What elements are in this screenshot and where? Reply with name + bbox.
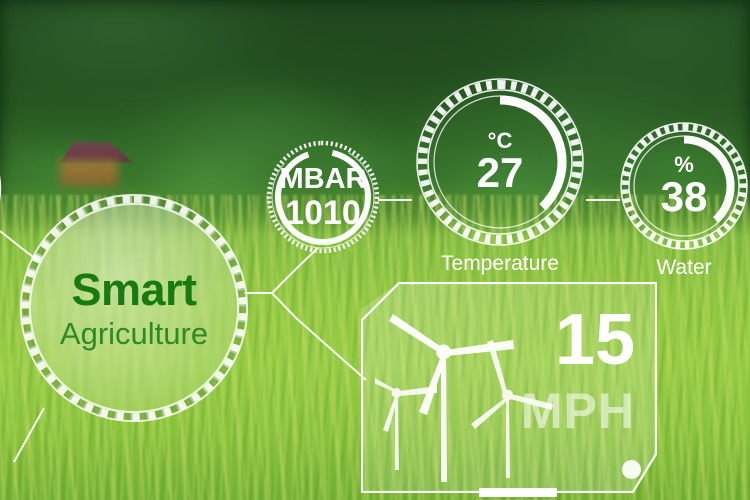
gauge-pressure[interactable]: MBAR 1010 <box>266 140 380 254</box>
connector-junction-to-wind <box>272 293 366 380</box>
brand-badge-text: Smart Agriculture <box>18 192 250 424</box>
connector-junction-to-mbar <box>272 248 318 293</box>
partial-gauge-icon <box>0 140 16 236</box>
gauge-water-value: 38 <box>661 176 708 218</box>
gauge-pressure-unit: MBAR <box>280 165 367 194</box>
wind-turbine-left <box>375 370 437 470</box>
gauge-temperature[interactable]: °C 27 Temperature <box>414 76 586 248</box>
wind-turbine-large <box>389 314 514 482</box>
wind-panel-corner-dot <box>622 460 641 479</box>
smart-agriculture-dashboard: Smart Agriculture MBAR 1010 <box>0 0 750 500</box>
gauge-temperature-value: 27 <box>477 152 524 194</box>
brand-badge[interactable]: Smart Agriculture <box>18 192 250 424</box>
wind-panel[interactable]: 15 MPH <box>361 282 657 493</box>
gauge-water[interactable]: % 38 Water <box>618 120 750 252</box>
brand-subtitle: Agriculture <box>60 318 208 349</box>
gauge-pressure-value: 1010 <box>285 196 361 230</box>
wind-panel-bottom-bar <box>479 488 557 497</box>
wind-speed-value: 15 <box>555 304 635 376</box>
gauge-temperature-label: Temperature <box>441 252 559 276</box>
gauge-pressure-readout: MBAR 1010 <box>266 140 380 254</box>
wind-speed-unit: MPH <box>521 386 635 436</box>
gauge-temperature-readout: °C 27 <box>414 76 586 248</box>
gauge-water-readout: % 38 <box>618 120 750 252</box>
gauge-water-label: Water <box>656 256 711 280</box>
brand-title: Smart <box>71 267 196 312</box>
